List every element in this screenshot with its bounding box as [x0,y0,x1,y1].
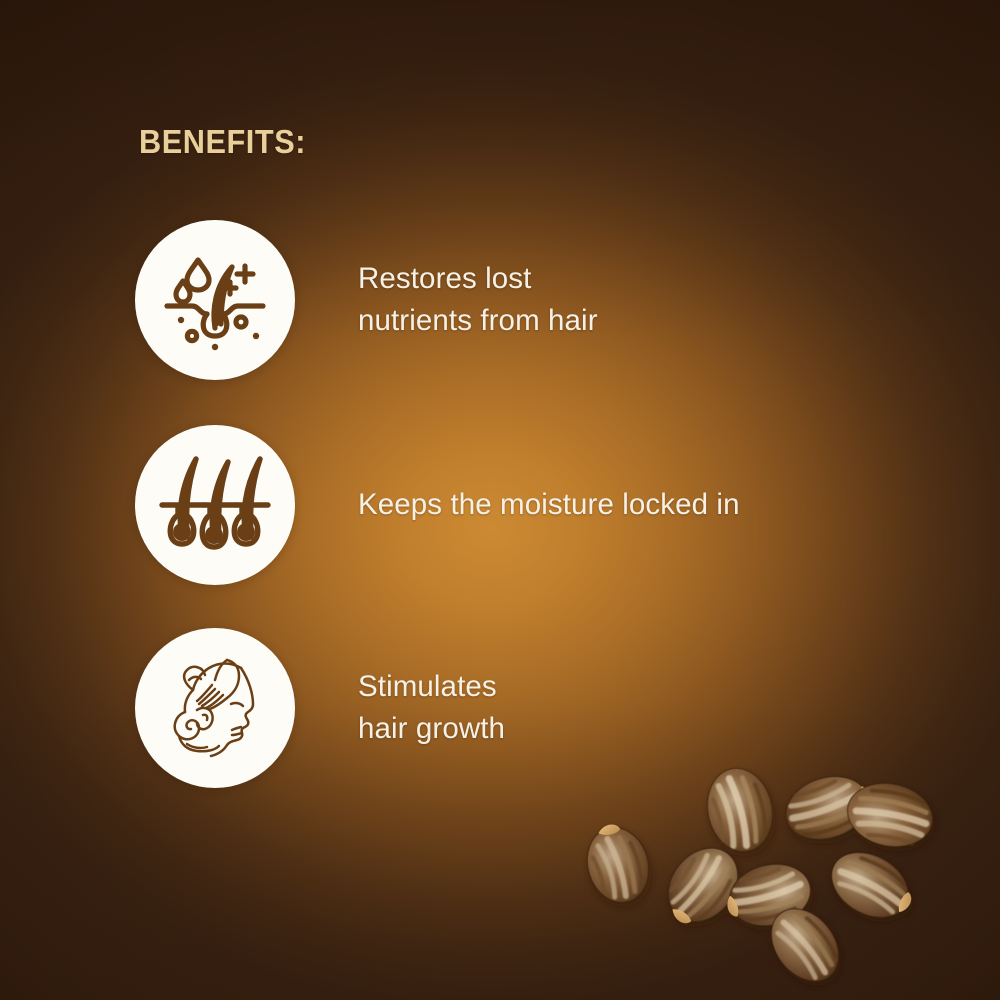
benefit-icon-circle [135,628,295,788]
page-title: BENEFITS: [139,123,306,161]
benefit-icon-circle [135,425,295,585]
benefit-item-hair-growth: Stimulates hair growth [135,628,935,788]
benefit-icon-circle [135,220,295,380]
hair-follicle-hydration-icon [159,244,271,356]
hair-follicles-icon [156,449,274,561]
benefit-item-moisture-lock: Keeps the moisture locked in [135,425,935,585]
benefit-label: Keeps the moisture locked in [358,484,740,526]
benefit-item-restores-nutrients: Restores lost nutrients from hair [135,220,935,380]
benefit-label: Restores lost nutrients from hair [358,258,598,342]
benefit-label: Stimulates hair growth [358,666,505,750]
scalp-massage-woman-icon [157,650,273,766]
infographic-canvas: BENEFITS: [0,0,1000,1000]
